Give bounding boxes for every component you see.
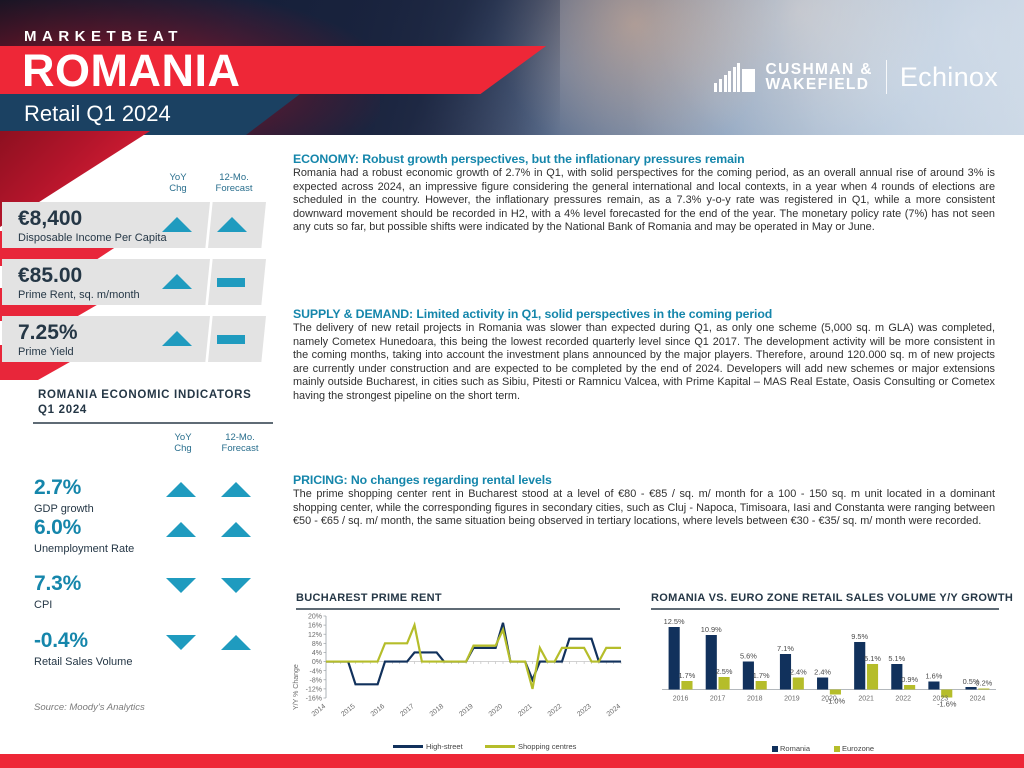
kpi-value: €8,400 (18, 207, 82, 231)
indicators-col-header-forecast: 12-Mo. Forecast (212, 432, 268, 454)
chart-bucharest-prime-rent: 20%16%12%8%4%0%-4%-8%-12%-16%20142015201… (296, 610, 626, 735)
svg-text:2022: 2022 (895, 696, 911, 703)
indicator-label: Unemployment Rate (34, 543, 134, 555)
kpi-yoy-line1: YoY (152, 172, 204, 183)
svg-text:2023: 2023 (933, 696, 949, 703)
cushman-wakefield-wordmark: CUSHMAN & WAKEFIELD (766, 62, 873, 92)
kpi-forecast-trend-up-icon (217, 217, 247, 232)
indicators-title: ROMANIA ECONOMIC INDICATORS Q1 2024 (38, 388, 252, 418)
chart-romania-vs-eurozone: 12.5%1.7%201610.9%2.5%20175.6%1.7%20187.… (648, 610, 1004, 742)
svg-text:20%: 20% (308, 614, 322, 621)
kpi-forecast-trend-flat-icon (217, 274, 245, 287)
legend-swatch-icon-romania (772, 746, 778, 752)
svg-text:2015: 2015 (340, 703, 357, 718)
indicators-divider (33, 422, 273, 424)
bar-chart-svg: 12.5%1.7%201610.9%2.5%20175.6%1.7%20187.… (648, 610, 1004, 742)
svg-text:0.2%: 0.2% (975, 679, 992, 688)
svg-text:2019: 2019 (458, 703, 475, 718)
indicator-value: -0.4% (34, 629, 88, 653)
svg-text:2019: 2019 (784, 696, 800, 703)
svg-text:2021: 2021 (858, 696, 874, 703)
indicators-col-header-yoy: YoY Chg (160, 432, 206, 454)
ind-forecast-line2: Forecast (212, 443, 268, 454)
svg-text:10.9%: 10.9% (701, 625, 722, 634)
logo-line-1: CUSHMAN & (766, 62, 873, 77)
indicators-source: Source: Moody's Analytics (34, 702, 145, 713)
kpi-forecast-line1: 12-Mo. (206, 172, 262, 183)
svg-text:2017: 2017 (399, 703, 416, 718)
chart-bar-title: ROMANIA VS. EURO ZONE RETAIL SALES VOLUM… (651, 592, 1013, 604)
kpi-value: 7.25% (18, 321, 78, 345)
legend-label-high-street: High-street (426, 742, 463, 751)
svg-text:2017: 2017 (710, 696, 726, 703)
page-title: ROMANIA (22, 48, 240, 94)
svg-text:2018: 2018 (429, 703, 446, 718)
kpi-yoy-trend-up-icon (162, 274, 192, 289)
indicator-row: 7.3% CPI (0, 572, 290, 630)
kpi-forecast-trend-flat-icon (217, 331, 245, 344)
ind-yoy-line1: YoY (160, 432, 206, 443)
svg-text:2020: 2020 (821, 696, 837, 703)
svg-text:2021: 2021 (517, 703, 534, 718)
svg-text:2.4%: 2.4% (814, 668, 831, 677)
ind-yoy-line2: Chg (160, 443, 206, 454)
svg-text:16%: 16% (308, 623, 322, 630)
svg-text:1.7%: 1.7% (753, 671, 770, 680)
indicator-row: 6.0% Unemployment Rate (0, 516, 290, 574)
svg-text:-4%: -4% (310, 668, 322, 675)
svg-text:8%: 8% (312, 641, 322, 648)
indicator-row: -0.4% Retail Sales Volume (0, 629, 290, 687)
indicator-forecast-trend-up-icon (221, 635, 251, 650)
svg-text:-12%: -12% (306, 686, 322, 693)
svg-text:7.1%: 7.1% (777, 644, 794, 653)
section-pricing: PRICING: No changes regarding rental lev… (293, 473, 995, 529)
line-chart-svg: 20%16%12%8%4%0%-4%-8%-12%-16%20142015201… (296, 610, 626, 735)
kpi-row: 7.25% Prime Yield (2, 316, 288, 362)
kpi-col-header-yoy: YoY Chg (152, 172, 204, 194)
legend-line-icon-high-street (393, 745, 423, 748)
section-economy: ECONOMY: Robust growth perspectives, but… (293, 152, 995, 235)
kpi-yoy-trend-up-icon (162, 217, 192, 232)
svg-text:-16%: -16% (306, 696, 322, 703)
section-supply-demand-heading: SUPPLY & DEMAND: Limited activity in Q1,… (293, 307, 995, 321)
building-icon (714, 62, 756, 92)
svg-text:2.4%: 2.4% (790, 668, 807, 677)
indicator-value: 2.7% (34, 476, 81, 500)
svg-text:5.6%: 5.6% (740, 652, 757, 661)
section-pricing-body: The prime shopping center rent in Buchar… (293, 488, 995, 529)
kpi-yoy-line2: Chg (152, 183, 204, 194)
svg-text:2014: 2014 (311, 703, 328, 718)
page-header: MARKETBEAT ROMANIA Retail Q1 2024 CUSHMA… (0, 0, 1024, 135)
section-pricing-heading: PRICING: No changes regarding rental lev… (293, 473, 995, 487)
indicator-value: 7.3% (34, 572, 81, 596)
echinox-wordmark: Echinox (900, 62, 998, 93)
indicators-title-line1: ROMANIA ECONOMIC INDICATORS (38, 388, 252, 403)
logo-line-2: WAKEFIELD (766, 77, 873, 92)
legend-label-shopping-centres: Shopping centres (518, 742, 576, 751)
legend-swatch-icon-eurozone (834, 746, 840, 752)
svg-text:2024: 2024 (970, 696, 986, 703)
kpi-row: €85.00 Prime Rent, sq. m/month (2, 259, 288, 305)
svg-text:2018: 2018 (747, 696, 763, 703)
legend-high-street: High-street (393, 742, 463, 751)
cushman-wakefield-echinox-logo: CUSHMAN & WAKEFIELD Echinox (714, 55, 998, 99)
svg-text:2024: 2024 (606, 703, 623, 718)
svg-text:9.5%: 9.5% (851, 632, 868, 641)
indicators-title-line2: Q1 2024 (38, 403, 252, 418)
legend-eurozone: Eurozone (834, 744, 874, 753)
svg-text:0%: 0% (312, 659, 322, 666)
section-supply-demand: SUPPLY & DEMAND: Limited activity in Q1,… (293, 307, 995, 404)
kpi-label: Disposable Income Per Capita (18, 232, 167, 244)
svg-text:1.6%: 1.6% (926, 672, 943, 681)
section-economy-body: Romania had a robust economic growth of … (293, 167, 995, 235)
indicator-forecast-trend-up-icon (221, 482, 251, 497)
marketbeat-eyebrow: MARKETBEAT (24, 28, 183, 45)
section-supply-demand-body: The delivery of new retail projects in R… (293, 322, 995, 404)
indicator-yoy-trend-down-icon (166, 578, 196, 593)
kpi-col-header-forecast: 12-Mo. Forecast (206, 172, 262, 194)
footer-red-bar (0, 754, 1024, 768)
svg-text:2023: 2023 (576, 703, 593, 718)
kpi-row: €8,400 Disposable Income Per Capita (2, 202, 288, 248)
indicator-forecast-trend-down-icon (221, 578, 251, 593)
ind-forecast-line1: 12-Mo. (212, 432, 268, 443)
indicator-yoy-trend-up-icon (166, 522, 196, 537)
legend-label-romania: Romania (780, 744, 810, 753)
legend-line-icon-shopping-centres (485, 745, 515, 748)
kpi-label: Prime Yield (18, 346, 74, 358)
marketbeat-page: MARKETBEAT ROMANIA Retail Q1 2024 CUSHMA… (0, 0, 1024, 768)
indicator-label: CPI (34, 599, 52, 611)
legend-label-eurozone: Eurozone (842, 744, 874, 753)
indicator-label: GDP growth (34, 503, 94, 515)
indicator-yoy-trend-down-icon (166, 635, 196, 650)
svg-text:2016: 2016 (370, 703, 387, 718)
svg-text:2.5%: 2.5% (716, 667, 733, 676)
indicator-value: 6.0% (34, 516, 81, 540)
section-economy-heading: ECONOMY: Robust growth perspectives, but… (293, 152, 995, 166)
svg-text:4%: 4% (312, 650, 322, 657)
chart-line-title: BUCHAREST PRIME RENT (296, 592, 442, 604)
svg-text:0.9%: 0.9% (901, 675, 918, 684)
svg-text:1.7%: 1.7% (679, 671, 696, 680)
kpi-label: Prime Rent, sq. m/month (18, 289, 140, 301)
page-subtitle: Retail Q1 2024 (24, 99, 171, 129)
svg-text:5.1%: 5.1% (888, 654, 905, 663)
svg-text:2016: 2016 (673, 696, 689, 703)
indicator-yoy-trend-up-icon (166, 482, 196, 497)
indicator-label: Retail Sales Volume (34, 656, 132, 668)
kpi-yoy-trend-up-icon (162, 331, 192, 346)
svg-text:2020: 2020 (488, 703, 505, 718)
kpi-forecast-line2: Forecast (206, 183, 262, 194)
svg-text:5.1%: 5.1% (864, 654, 881, 663)
svg-text:12.5%: 12.5% (664, 617, 685, 626)
kpi-value: €85.00 (18, 264, 82, 288)
svg-text:12%: 12% (308, 632, 322, 639)
logo-divider (886, 60, 887, 94)
legend-shopping-centres: Shopping centres (485, 742, 576, 751)
indicator-forecast-trend-up-icon (221, 522, 251, 537)
svg-text:2022: 2022 (547, 703, 564, 718)
legend-romania: Romania (772, 744, 810, 753)
svg-text:-8%: -8% (310, 677, 322, 684)
